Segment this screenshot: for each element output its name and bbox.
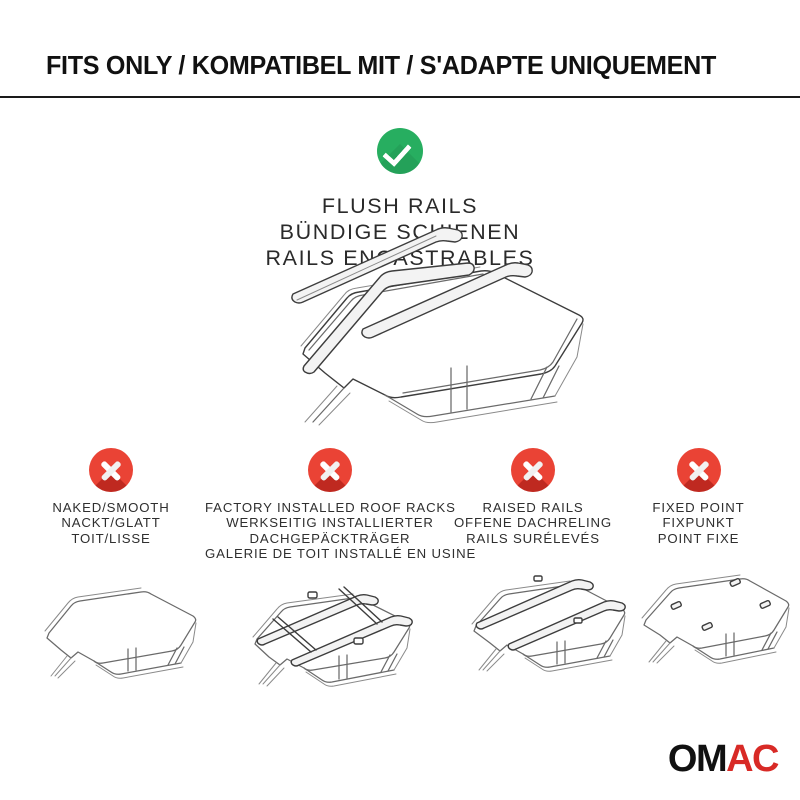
cross-circle-icon — [677, 448, 721, 492]
variant-label-en: NAKED/SMOOTH — [11, 500, 211, 515]
variant-label-de: OFFENE DACHRELING — [438, 515, 628, 530]
variant-label-en: RAISED RAILS — [438, 500, 628, 515]
incompatible-option-naked-smooth: NAKED/SMOOTH NACKT/GLATT TOIT/LISSE — [11, 448, 211, 708]
incompatible-options-row: NAKED/SMOOTH NACKT/GLATT TOIT/LISSE — [0, 448, 800, 768]
variant-badge-wrap — [616, 448, 781, 500]
incompatible-option-raised-rails: RAISED RAILS OFFENE DACHRELING RAILS SUR… — [438, 448, 628, 708]
logo-text-dark: OM — [668, 738, 726, 780]
variant-labels: NAKED/SMOOTH NACKT/GLATT TOIT/LISSE — [11, 500, 211, 546]
compatible-label-de: BÜNDIGE SCHIENEN — [0, 219, 800, 245]
cross-circle-icon — [308, 448, 352, 492]
incompatible-option-fixed-point: FIXED POINT FIXPUNKT POINT FIXE — [616, 448, 781, 708]
car-roof-naked-illustration — [11, 558, 211, 708]
compatible-option-labels: FLUSH RAILS BÜNDIGE SCHIENEN RAILS ENCAS… — [0, 193, 800, 271]
page-title: FITS ONLY / KOMPATIBEL MIT / S'ADAPTE UN… — [46, 52, 755, 81]
variant-label-fr: POINT FIXE — [616, 531, 781, 546]
logo-text-accent: AC — [726, 738, 778, 780]
incompatible-option-factory-roof-racks: FACTORY INSTALLED ROOF RACKS WERKSEITIG … — [205, 448, 455, 724]
variant-label-fr: RAILS SURÉLEVÉS — [438, 531, 628, 546]
variant-label-de-1: WERKSEITIG INSTALLIERTER — [205, 515, 455, 530]
car-roof-raised-rails-illustration — [438, 558, 628, 708]
variant-labels: FIXED POINT FIXPUNKT POINT FIXE — [616, 500, 781, 546]
variant-label-en: FIXED POINT — [616, 500, 781, 515]
car-roof-with-factory-cross-bars-illustration — [205, 574, 455, 724]
car-roof-with-flush-rails-illustration — [205, 262, 625, 437]
variant-badge-wrap — [11, 448, 211, 500]
compatible-label-en: FLUSH RAILS — [0, 193, 800, 219]
variant-label-de: NACKT/GLATT — [11, 515, 211, 530]
cross-circle-icon — [511, 448, 555, 492]
variant-labels: FACTORY INSTALLED ROOF RACKS WERKSEITIG … — [205, 500, 455, 562]
variant-label-fr: GALERIE DE TOIT INSTALLÉ EN USINE — [205, 546, 455, 561]
car-roof-fixed-point-illustration — [616, 558, 781, 708]
header-divider — [0, 96, 800, 98]
variant-label-de: FIXPUNKT — [616, 515, 781, 530]
variant-label-en: FACTORY INSTALLED ROOF RACKS — [205, 500, 455, 515]
cross-circle-icon — [89, 448, 133, 492]
check-circle-icon — [377, 128, 423, 174]
variant-badge-wrap — [205, 448, 455, 500]
variant-labels: RAISED RAILS OFFENE DACHRELING RAILS SUR… — [438, 500, 628, 546]
omac-logo: OMAC — [668, 740, 778, 778]
variant-badge-wrap — [438, 448, 628, 500]
variant-label-de-2: DACHGEPÄCKTRÄGER — [205, 531, 455, 546]
variant-label-fr: TOIT/LISSE — [11, 531, 211, 546]
